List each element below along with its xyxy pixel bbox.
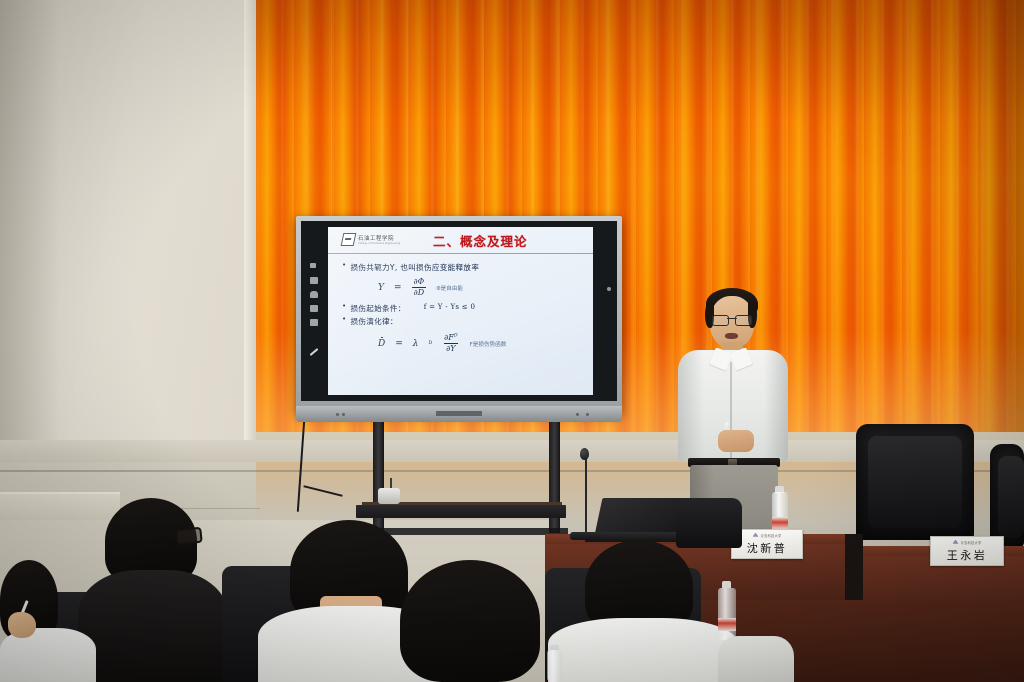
chin-indicator-dot	[342, 413, 345, 416]
formula2-coefficient-sup: D	[428, 341, 432, 346]
formula2-coefficient: λ	[413, 339, 419, 349]
audience-shoulders	[548, 618, 738, 682]
bullet-marker: •	[342, 262, 346, 270]
chin-indicator-dot	[336, 413, 339, 416]
shape-icon[interactable]	[310, 291, 318, 298]
display-stand-shelf	[356, 505, 566, 518]
presenter-hands	[718, 430, 754, 452]
display-screen[interactable]: 石油工程学院 College of Petroleum Engineering …	[301, 221, 617, 401]
nameplate-name: 沈新普	[747, 540, 788, 556]
chair-cushion	[998, 456, 1024, 538]
curtain-right-shading	[964, 0, 1024, 452]
bullet-text: 损伤演化律：	[350, 316, 397, 327]
bottle-cap	[722, 581, 731, 588]
whiteboard-toolbar[interactable]	[306, 263, 322, 359]
select-icon[interactable]	[310, 263, 316, 268]
curtain-top-shading	[256, 0, 1024, 120]
chin-indicator-dot	[586, 413, 589, 416]
desk-device	[378, 488, 400, 504]
formula1-denominator: ∂D	[412, 287, 427, 297]
microphone-capsule	[580, 448, 589, 460]
lecture-hall-photo: 石油工程学院 College of Petroleum Engineering …	[0, 0, 1024, 682]
formula1-numerator: ∂Φ	[412, 278, 427, 287]
interactive-display[interactable]: 石油工程学院 College of Petroleum Engineering …	[296, 216, 622, 424]
audience-shoulders	[78, 570, 228, 682]
wall-shadow	[0, 0, 60, 452]
slide-bullet-1: • 损伤共轭力Y, 也叫损伤应变能释放率	[342, 262, 593, 273]
water-bottle	[547, 650, 562, 682]
display-status-dot	[607, 287, 611, 291]
page-icon[interactable]	[310, 305, 318, 312]
formula1-equals: =	[394, 283, 402, 293]
eraser-icon[interactable]	[310, 277, 318, 284]
water-bottle	[718, 588, 736, 640]
formula2-numerator-base: ∂F	[444, 333, 454, 342]
nameplate-wang-yongyan: 青岛科技大学 王永岩	[930, 536, 1004, 566]
slide-bullet-3: • 损伤演化律：	[342, 316, 593, 327]
formula1-lhs: Y	[378, 283, 384, 293]
bottle-label	[718, 618, 736, 631]
shirt-shadow-left	[678, 350, 704, 462]
pen-icon[interactable]	[310, 348, 319, 356]
chin-indicator-dot	[576, 413, 579, 416]
nameplate-org: 青岛科技大学	[761, 533, 782, 538]
audience-head	[400, 560, 540, 682]
slide-logo-org-cn: 石油工程学院	[358, 234, 400, 242]
bullet-marker: •	[342, 303, 346, 311]
microphone-base	[570, 532, 600, 540]
formula-damage-evolution: D = λD ∂FD ∂Y F是损伤势函数	[378, 334, 593, 353]
square-icon[interactable]	[310, 319, 318, 326]
slide-header: 石油工程学院 College of Petroleum Engineering …	[328, 227, 593, 254]
formula2-lhs: D	[378, 339, 385, 349]
slide-logo-org-en: College of Petroleum Engineering	[358, 242, 400, 245]
slide-bullet-2: • 损伤起始条件： f = Y - Ys ≤ 0	[342, 303, 593, 314]
gooseneck-microphone-stem	[585, 455, 587, 537]
audience-chair	[676, 498, 742, 548]
nameplate-logo: 青岛科技大学	[953, 540, 982, 546]
presentation-slide: 石油工程学院 College of Petroleum Engineering …	[328, 227, 593, 395]
formula-damage-conjugate-force: Y = ∂Φ ∂D Φ是自由能	[378, 278, 593, 297]
slide-body: • 损伤共轭力Y, 也叫损伤应变能释放率 Y = ∂Φ ∂D Φ是自由能 •	[328, 254, 593, 353]
bullet-marker: •	[342, 316, 346, 324]
formula2-numerator: ∂FD	[442, 334, 459, 343]
bullet-text: 损伤起始条件：	[350, 303, 405, 314]
university-emblem-icon	[953, 540, 959, 546]
nameplate-logo: 青岛科技大学	[753, 533, 782, 539]
university-emblem-icon	[753, 533, 759, 539]
formula1-fraction: ∂Φ ∂D	[412, 278, 427, 297]
presenter-glasses	[712, 315, 752, 324]
formula2-numerator-sup: D	[454, 333, 458, 338]
audience-hand	[8, 612, 36, 638]
college-logo-icon	[341, 233, 357, 246]
bullet-text: 损伤共轭力Y, 也叫损伤应变能释放率	[350, 262, 479, 273]
chair-cushion	[868, 436, 962, 528]
slide-logo: 石油工程学院 College of Petroleum Engineering	[342, 233, 400, 246]
nameplate-org: 青岛科技大学	[961, 540, 982, 545]
formula2-denominator: ∂Y	[444, 343, 457, 353]
formula2-equals: =	[395, 339, 403, 349]
display-chin-bar	[296, 406, 622, 422]
damage-initiation-condition: f = Y - Ys ≤ 0	[424, 303, 476, 311]
glasses-lens-left	[712, 315, 729, 326]
glasses-lens-right	[735, 315, 752, 326]
audience-shoulders	[718, 636, 794, 682]
presenter-mouth	[725, 333, 738, 339]
formula1-note: Φ是自由能	[436, 284, 463, 292]
formula2-note: F是损伤势函数	[470, 340, 507, 348]
slide-title: 二、概念及理论	[433, 231, 528, 250]
display-brand-label	[436, 411, 482, 416]
audience-glasses	[175, 527, 203, 546]
shirt-shadow-right	[764, 350, 788, 462]
nameplate-name: 王永岩	[947, 547, 988, 563]
formula2-fraction: ∂FD ∂Y	[442, 334, 459, 353]
